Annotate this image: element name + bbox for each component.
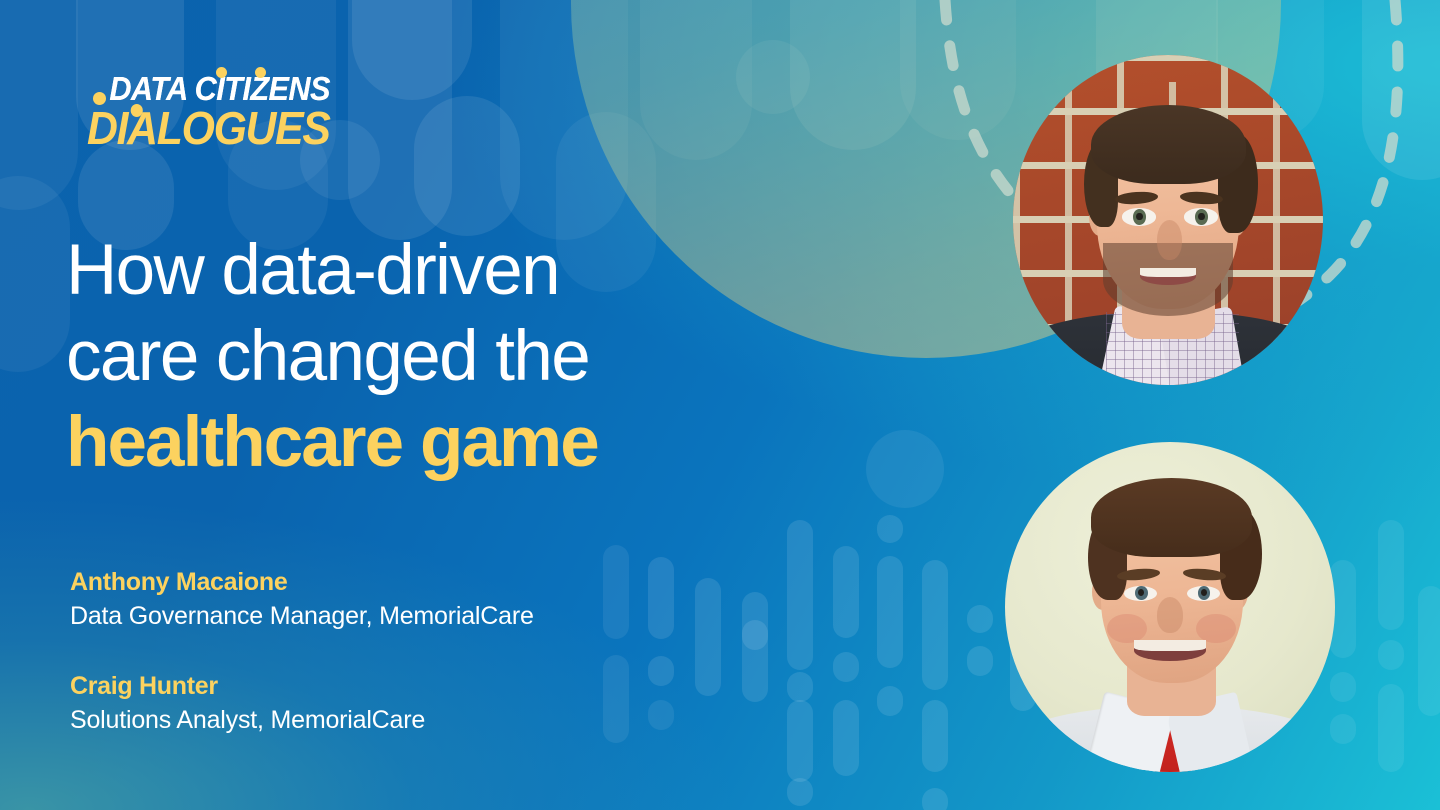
- photo-mouth: [1134, 640, 1207, 661]
- waveform-bar: [877, 515, 903, 543]
- headline-line-3-accent: healthcare game: [66, 400, 756, 486]
- speaker-role: Solutions Analyst, MemorialCare: [70, 703, 830, 738]
- waveform-bar: [1418, 586, 1440, 716]
- waveform-bar: [967, 646, 993, 676]
- photo-eye-left: [1124, 586, 1157, 601]
- decor-pill: [414, 96, 520, 236]
- photo-nose: [1157, 597, 1183, 633]
- waveform-bar: [877, 686, 903, 716]
- headline-line-1: How data-driven: [66, 228, 756, 314]
- waveform-bar: [833, 652, 859, 682]
- speaker-name: Anthony Macaione: [70, 566, 830, 599]
- logo-dot-i-citizens-second-icon: [255, 67, 266, 78]
- photo-iris: [1135, 586, 1148, 600]
- photo-teeth: [1140, 268, 1196, 277]
- headline-line-2: care changed the: [66, 314, 756, 400]
- decor-pill: [500, 0, 628, 240]
- photo-iris: [1198, 586, 1211, 600]
- speaker-photo-anthony-macaione: [1013, 55, 1323, 385]
- speaker-role: Data Governance Manager, MemorialCare: [70, 599, 830, 634]
- decor-pill: [0, 0, 78, 210]
- page-title: How data-driven care changed the healthc…: [66, 228, 756, 486]
- logo-line-data-citizens: DATA CITIZENS: [87, 72, 366, 106]
- waveform-bar: [1378, 520, 1404, 630]
- waveform-bar: [787, 778, 813, 806]
- decor-circle: [736, 40, 810, 114]
- speaker-list: Anthony Macaione Data Governance Manager…: [70, 566, 830, 738]
- photo-teeth: [1134, 640, 1207, 651]
- photo-eye-left: [1122, 208, 1156, 225]
- waveform-bar: [1378, 684, 1404, 772]
- decor-pill: [900, 0, 1016, 140]
- waveform-bar: [922, 560, 948, 690]
- photo-hair-top: [1091, 105, 1246, 184]
- photo-eye-right: [1187, 586, 1220, 601]
- speaker-photo-craig-hunter: [1005, 442, 1335, 772]
- waveform-bar: [877, 556, 903, 668]
- photo-nose: [1157, 220, 1182, 260]
- speaker-entry: Anthony Macaione Data Governance Manager…: [70, 566, 830, 634]
- decor-pill: [0, 176, 70, 372]
- logo-dot-i-citizens-icon: [216, 67, 227, 78]
- photo-hair-top: [1091, 478, 1253, 557]
- waveform-bar: [967, 605, 993, 633]
- photo-iris: [1195, 209, 1208, 225]
- photo-mouth: [1140, 268, 1196, 285]
- decor-pill: [790, 0, 916, 150]
- decor-circle: [866, 430, 944, 508]
- waveform-bar: [922, 700, 948, 772]
- waveform-bar: [922, 788, 948, 810]
- speaker-entry: Craig Hunter Solutions Analyst, Memorial…: [70, 670, 830, 738]
- podcast-title-card: DATA CITIZENS DIALOGUES How data-driven …: [0, 0, 1440, 810]
- logo-line-dialogues: DIALOGUES: [87, 106, 366, 150]
- waveform-bar: [833, 700, 859, 776]
- waveform-bar: [1378, 640, 1404, 670]
- logo-dot-i-dialogues-icon: [131, 104, 143, 117]
- waveform-bar: [833, 546, 859, 638]
- photo-cheek-right: [1196, 614, 1236, 644]
- decor-pill: [1362, 0, 1440, 180]
- photo-eye-right: [1184, 208, 1218, 225]
- photo-iris: [1133, 209, 1146, 225]
- photo-cheek-left: [1107, 614, 1147, 644]
- speaker-name: Craig Hunter: [70, 670, 830, 703]
- brand-logo: DATA CITIZENS DIALOGUES: [87, 72, 387, 150]
- decor-pill: [640, 0, 752, 160]
